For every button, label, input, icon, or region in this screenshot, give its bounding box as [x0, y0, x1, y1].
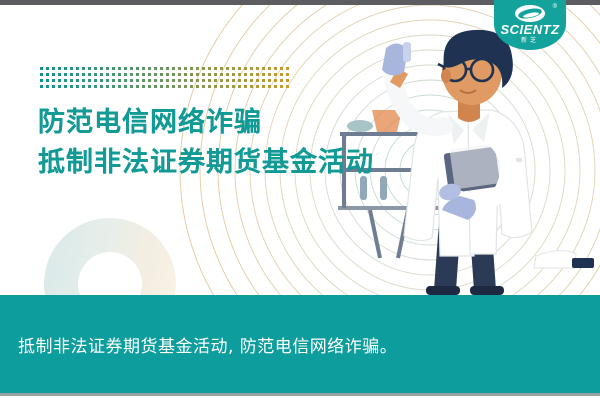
clipboard-icon [443, 147, 500, 194]
dot [70, 85, 73, 88]
dot [76, 79, 79, 82]
dot [178, 79, 181, 82]
dot [52, 73, 55, 76]
glove-icon [382, 43, 408, 75]
scientist-head [438, 30, 513, 105]
dot [250, 85, 253, 88]
dot [88, 85, 91, 88]
dot [220, 85, 223, 88]
dot [208, 73, 211, 76]
banner-slogan: 抵制非法证券期货基金活动, 防范电信网络诈骗。 [18, 332, 397, 357]
dot [64, 85, 67, 88]
dot [268, 85, 271, 88]
dot [178, 67, 181, 70]
dot [286, 73, 289, 76]
dot [286, 67, 289, 70]
dot [244, 79, 247, 82]
dot [280, 73, 283, 76]
dot [40, 85, 43, 88]
dot [280, 67, 283, 70]
dot [202, 79, 205, 82]
dot [274, 79, 277, 82]
dot [244, 73, 247, 76]
dot [82, 73, 85, 76]
dot-grid-row [40, 85, 292, 91]
dot [106, 67, 109, 70]
dot [58, 79, 61, 82]
dot [154, 67, 157, 70]
dot [214, 85, 217, 88]
headline-line-1: 防范电信网络诈骗 [38, 103, 374, 143]
dot [52, 85, 55, 88]
dot [46, 85, 49, 88]
scientz-emblem-icon [515, 5, 545, 22]
dot [196, 85, 199, 88]
dot [76, 85, 79, 88]
dot [166, 67, 169, 70]
dot [124, 85, 127, 88]
dot [262, 79, 265, 82]
dot [160, 85, 163, 88]
dot [82, 85, 85, 88]
headline-line-2: 抵制非法证券期货基金活动 [38, 143, 374, 183]
dot [184, 73, 187, 76]
dot [166, 73, 169, 76]
dot [142, 73, 145, 76]
banner-shadow [0, 393, 600, 396]
dot [130, 67, 133, 70]
dot [112, 79, 115, 82]
dot [268, 79, 271, 82]
scientist-clipboard-arm [437, 140, 508, 220]
dot [178, 85, 181, 88]
dot [46, 73, 49, 76]
dot [136, 85, 139, 88]
glasses-icon [438, 59, 493, 81]
dot [124, 79, 127, 82]
scientist-lab-coat [404, 110, 532, 256]
dot [196, 67, 199, 70]
dot [124, 67, 127, 70]
dot [220, 79, 223, 82]
dot [214, 79, 217, 82]
dot [262, 73, 265, 76]
dot [94, 73, 97, 76]
dot [100, 73, 103, 76]
dot [142, 85, 145, 88]
dot [52, 79, 55, 82]
dark-block [572, 258, 594, 268]
dot [286, 79, 289, 82]
poster-canvas: 防范电信网络诈骗 抵制非法证券期货基金活动 [0, 0, 600, 400]
dot [160, 67, 163, 70]
dot [136, 73, 139, 76]
dot [274, 73, 277, 76]
dot [70, 79, 73, 82]
dot [208, 79, 211, 82]
dot [250, 79, 253, 82]
dot [280, 79, 283, 82]
scientist-shirt [442, 111, 494, 186]
dot [106, 73, 109, 76]
dot [226, 79, 229, 82]
dot [232, 67, 235, 70]
logo-chinese-name: 新芝 [494, 37, 566, 45]
dot [250, 67, 253, 70]
dot [76, 73, 79, 76]
dot [184, 85, 187, 88]
dot [160, 73, 163, 76]
dot [112, 85, 115, 88]
dot [148, 67, 151, 70]
dot [64, 67, 67, 70]
dot [148, 85, 151, 88]
dot [100, 85, 103, 88]
dot [94, 67, 97, 70]
dot [202, 67, 205, 70]
dot [154, 73, 157, 76]
dot [232, 79, 235, 82]
dot [112, 67, 115, 70]
dot [202, 73, 205, 76]
dot [232, 85, 235, 88]
dot [94, 85, 97, 88]
dot [190, 79, 193, 82]
dot [124, 73, 127, 76]
dot [136, 79, 139, 82]
dot [238, 85, 241, 88]
dot [82, 79, 85, 82]
scientist-legs [426, 204, 504, 295]
dot [238, 67, 241, 70]
dot [142, 79, 145, 82]
dot [58, 85, 61, 88]
dot [88, 79, 91, 82]
dot [202, 85, 205, 88]
dot [100, 79, 103, 82]
dot [280, 85, 283, 88]
dot [268, 67, 271, 70]
dot [238, 79, 241, 82]
dot [118, 79, 121, 82]
dot [148, 73, 151, 76]
registered-mark: ® [553, 4, 557, 10]
dot [46, 67, 49, 70]
dot [214, 67, 217, 70]
dot [40, 79, 43, 82]
dot [82, 67, 85, 70]
dot [154, 85, 157, 88]
dot [64, 73, 67, 76]
dot [274, 85, 277, 88]
dot [118, 67, 121, 70]
dot [94, 79, 97, 82]
dot [118, 85, 121, 88]
dot [226, 73, 229, 76]
dot-grid-decoration [40, 67, 292, 91]
dot [40, 67, 43, 70]
dot [46, 79, 49, 82]
paper-sheet [534, 250, 576, 268]
dot [196, 79, 199, 82]
dot [178, 73, 181, 76]
dot [208, 85, 211, 88]
scientist-raised-arm [382, 42, 444, 127]
dot [130, 73, 133, 76]
dot [130, 85, 133, 88]
dot [220, 67, 223, 70]
dot [172, 67, 175, 70]
dot [142, 67, 145, 70]
dot [286, 85, 289, 88]
dot [166, 79, 169, 82]
dot [64, 79, 67, 82]
dot [250, 73, 253, 76]
dot [106, 79, 109, 82]
dot [256, 73, 259, 76]
headline: 防范电信网络诈骗 抵制非法证券期货基金活动 [38, 103, 374, 183]
dot [190, 73, 193, 76]
dot [130, 79, 133, 82]
dot [184, 79, 187, 82]
dot [190, 67, 193, 70]
dot [58, 73, 61, 76]
dot [100, 67, 103, 70]
dot [274, 67, 277, 70]
dot [160, 79, 163, 82]
dot [172, 85, 175, 88]
dot [262, 67, 265, 70]
dot [52, 67, 55, 70]
dot [112, 73, 115, 76]
dot [208, 67, 211, 70]
dot [244, 67, 247, 70]
dot [118, 73, 121, 76]
dot [238, 73, 241, 76]
dot [166, 85, 169, 88]
logo-wordmark: SCIENTZ [494, 23, 566, 37]
dot [214, 73, 217, 76]
dot [256, 79, 259, 82]
dot [148, 79, 151, 82]
dot [172, 73, 175, 76]
dot [226, 67, 229, 70]
dot [262, 85, 265, 88]
dot [106, 85, 109, 88]
dot [40, 73, 43, 76]
dot [268, 73, 271, 76]
dot [136, 67, 139, 70]
dot [70, 73, 73, 76]
dot [172, 79, 175, 82]
dot [70, 67, 73, 70]
dot [244, 85, 247, 88]
dot [256, 67, 259, 70]
dot [88, 73, 91, 76]
dot [58, 67, 61, 70]
dot [76, 67, 79, 70]
scientz-logo[interactable]: ® SCIENTZ 新芝 [494, 0, 566, 50]
dot [184, 67, 187, 70]
scientist-neck [458, 96, 480, 122]
dot [88, 67, 91, 70]
dot [232, 73, 235, 76]
dot [256, 85, 259, 88]
dot [226, 85, 229, 88]
dot [154, 79, 157, 82]
dot [196, 73, 199, 76]
dot [190, 85, 193, 88]
dot [220, 73, 223, 76]
